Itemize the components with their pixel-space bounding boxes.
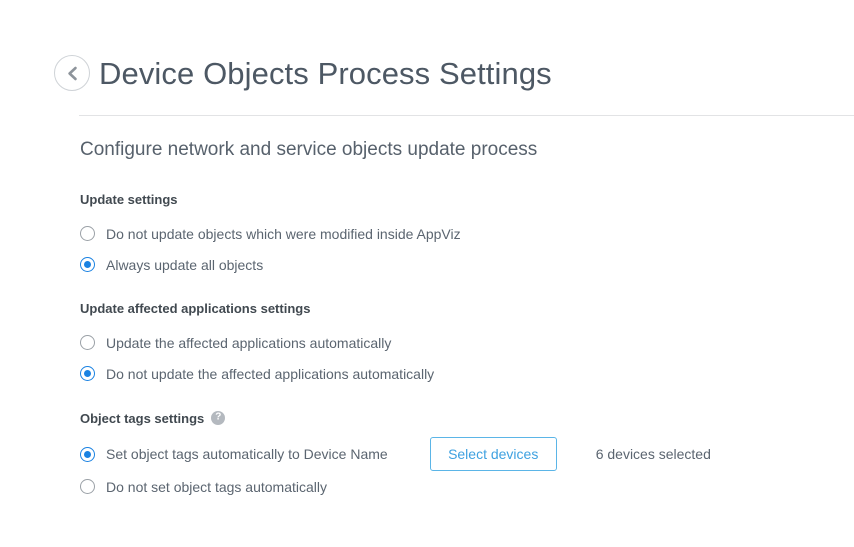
section-heading-label: Update affected applications settings	[80, 302, 310, 315]
section-heading: Update settings	[80, 193, 854, 206]
radio-mark	[80, 335, 95, 350]
radio-option-do-not-update-modified[interactable]: Do not update objects which were modifie…	[80, 218, 854, 249]
help-icon-glyph: ?	[215, 413, 221, 423]
radio-mark	[80, 447, 95, 462]
radio-option-update-affected-auto[interactable]: Update the affected applications automat…	[80, 327, 854, 358]
radio-label: Set object tags automatically to Device …	[106, 447, 388, 461]
settings-content: Configure network and service objects up…	[80, 140, 854, 506]
radio-label: Do not update the affected applications …	[106, 367, 434, 381]
radio-mark	[80, 366, 95, 381]
radio-mark	[80, 257, 95, 272]
radio-option-set-object-tags-device-name[interactable]: Set object tags automatically to Device …	[80, 439, 388, 470]
section-heading: Update affected applications settings	[80, 302, 854, 315]
page-title: Device Objects Process Settings	[99, 58, 552, 89]
radio-label: Do not update objects which were modifie…	[106, 227, 461, 241]
radio-option-always-update-all[interactable]: Always update all objects	[80, 249, 854, 280]
select-devices-button[interactable]: Select devices	[430, 437, 557, 471]
selected-devices-count: 6 devices selected	[596, 447, 711, 461]
radio-label: Do not set object tags automatically	[106, 480, 327, 494]
radio-label: Always update all objects	[106, 258, 263, 272]
header-divider	[79, 115, 854, 116]
radio-mark	[80, 226, 95, 241]
back-button[interactable]	[54, 55, 90, 91]
chevron-left-icon	[66, 66, 79, 81]
section-update-affected-applications: Update affected applications settings Up…	[80, 302, 854, 389]
section-heading-label: Object tags settings	[80, 412, 204, 425]
radio-option-do-not-set-object-tags[interactable]: Do not set object tags automatically	[80, 471, 854, 502]
page-subtitle: Configure network and service objects up…	[80, 140, 854, 159]
section-update-settings: Update settings Do not update objects wh…	[80, 193, 854, 280]
object-tags-primary-row: Set object tags automatically to Device …	[80, 437, 854, 471]
help-circle-icon[interactable]: ?	[211, 411, 225, 425]
radio-label: Update the affected applications automat…	[106, 336, 391, 350]
radio-mark	[80, 479, 95, 494]
radio-option-do-not-update-affected-auto[interactable]: Do not update the affected applications …	[80, 358, 854, 389]
page-header: Device Objects Process Settings	[54, 55, 552, 91]
section-object-tags-settings: Object tags settings ? Set object tags a…	[80, 411, 854, 502]
section-heading: Object tags settings ?	[80, 411, 854, 425]
section-heading-label: Update settings	[80, 193, 178, 206]
